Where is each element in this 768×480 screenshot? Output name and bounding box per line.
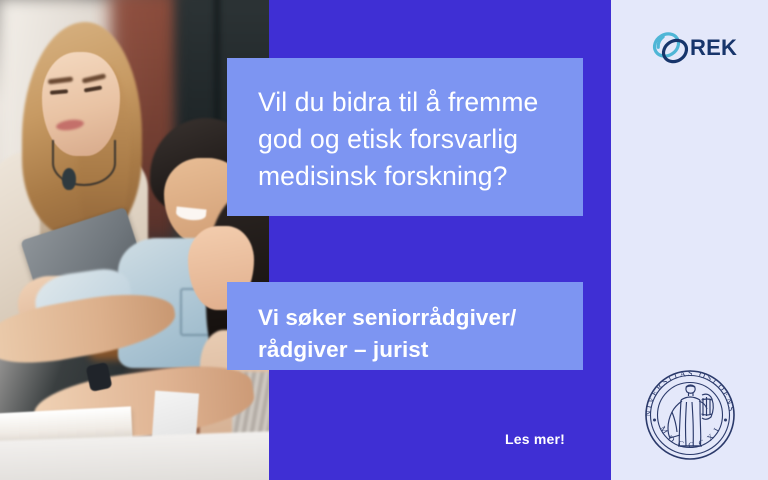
two-interlocking-rings-icon	[650, 28, 694, 68]
subheadline-line-1: Vi søker seniorrådgiver/	[258, 305, 516, 330]
photo-desk	[0, 431, 269, 480]
rek-wordmark: REK	[690, 37, 737, 59]
headline-card: Vil du bidra til å fremme god og etisk f…	[227, 58, 583, 216]
subheadline-line-2: rådgiver – jurist	[258, 337, 429, 362]
subheadline-card: Vi søker seniorrådgiver/ rådgiver – juri…	[227, 282, 583, 370]
photo-necklace-pendant	[62, 168, 76, 190]
subheadline-text: Vi søker seniorrådgiver/ rådgiver – juri…	[258, 302, 553, 366]
headline-text: Vil du bidra til å fremme god og etisk f…	[258, 84, 553, 195]
les-mer-link[interactable]: Les mer!	[505, 431, 565, 447]
rek-logo[interactable]: REK	[650, 27, 740, 69]
headline-line-2: god og etisk forsvarlig	[258, 124, 518, 154]
job-advert-banner: Vil du bidra til å fremme god og etisk f…	[0, 0, 768, 480]
uio-seal: UNIVERSITAS OSLOENSIS M D C C C X I	[637, 362, 743, 468]
headline-line-3: medisinsk forskning?	[258, 161, 507, 191]
headline-line-1: Vil du bidra til å fremme	[258, 87, 538, 117]
